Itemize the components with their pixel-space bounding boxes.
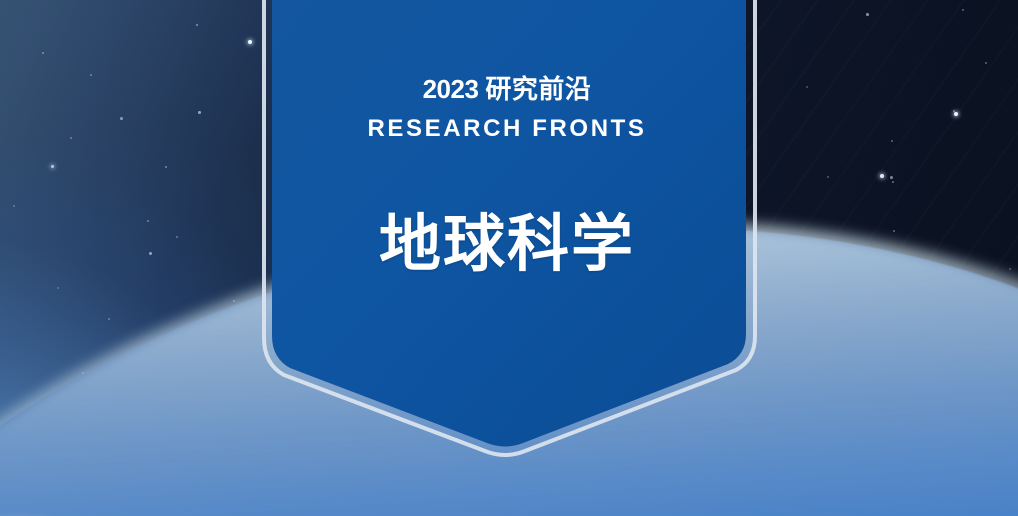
banner-shape-path	[272, 0, 746, 447]
cover-stage: 2023研究前沿 RESEARCH FRONTS 地球科学	[0, 0, 1018, 516]
banner-ribbon	[258, 0, 770, 460]
